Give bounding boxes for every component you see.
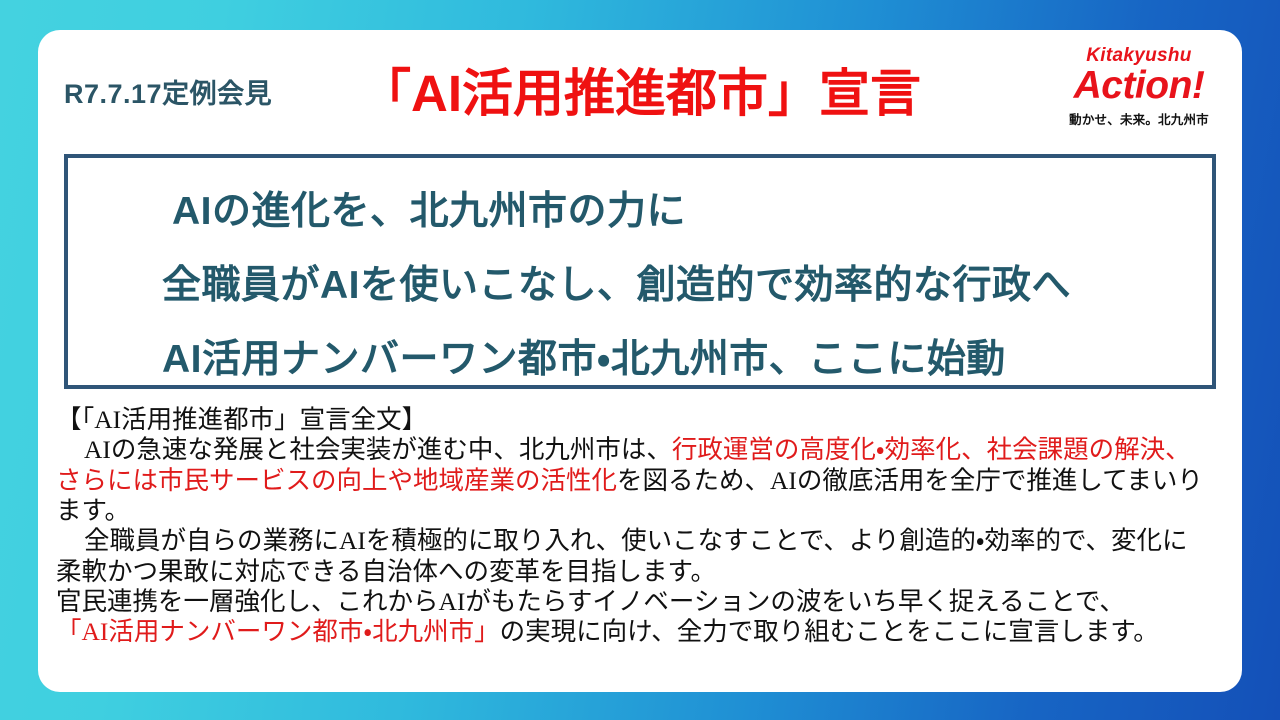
declaration-text-segment: AIの急速な発展と社会実装が進む中、北九州市は、 (84, 435, 672, 464)
declaration-text-segment: 「AI活用ナンバーワン都市・北九州市」 (56, 617, 500, 646)
declaration-text-segment: ます。 (56, 496, 130, 525)
meeting-date-label: R7.7.17定例会見 (64, 72, 272, 111)
declaration-body: 【「AI活用推進都市」宣言全文】 AIの急速な発展と社会実装が進む中、北九州市は… (56, 405, 1226, 648)
declaration-text-segment: 官民連携を一層強化し、これからAIがもたらすイノベーションの波をいち早く捉えるこ… (56, 587, 1125, 616)
declaration-line: 柔軟かつ果敢に対応できる自治体への変革を目指します。 (56, 557, 1226, 587)
logo-tagline: 動かせ、未来。北九州市 (1050, 109, 1228, 128)
slogan-box: AIの進化を、北九州市の力に 全職員がAIを使いこなし、創造的で効率的な行政へ … (64, 154, 1216, 389)
declaration-text-segment: の実現に向け、全力で取り組むことをここに宣言します。 (500, 617, 1159, 646)
slogan-line-1: AIの進化を、北九州市の力に (172, 180, 686, 236)
declaration-heading: 【「AI活用推進都市」宣言全文】 (56, 405, 1226, 435)
declaration-line: 「AI活用ナンバーワン都市・北九州市」の実現に向け、全力で取り組むことをここに宣… (56, 617, 1226, 647)
declaration-line: 官民連携を一層強化し、これからAIがもたらすイノベーションの波をいち早く捉えるこ… (56, 587, 1226, 617)
declaration-paragraphs: AIの急速な発展と社会実装が進む中、北九州市は、行政運営の高度化・効率化、社会課… (56, 435, 1226, 647)
logo-main-text: Action! (1050, 66, 1228, 106)
slide-card: R7.7.17定例会見 「AI活用推進都市」宣言 Kitakyushu Acti… (38, 30, 1242, 692)
declaration-text-segment: 柔軟かつ果敢に対応できる自治体への変革を目指します。 (56, 557, 716, 586)
declaration-line: ます。 (56, 496, 1226, 526)
declaration-line: 全職員が自らの業務にAIを積極的に取り入れ、使いこなすことで、より創造的・効率的… (56, 526, 1226, 556)
declaration-line: AIの急速な発展と社会実装が進む中、北九州市は、行政運営の高度化・効率化、社会課… (56, 435, 1226, 465)
page-title: 「AI活用推進都市」宣言 (360, 52, 921, 126)
logo-top-text: Kitakyushu (1050, 46, 1228, 65)
declaration-text-segment: 行政運営の高度化・効率化、社会課題の解決、 (672, 435, 1191, 464)
declaration-text-segment: 全職員が自らの業務にAIを積極的に取り入れ、使いこなすことで、より創造的・効率的… (84, 526, 1188, 555)
declaration-text-segment: を図るため、AIの徹底活用を全庁で推進してまいり (617, 466, 1203, 495)
declaration-text-segment: さらには市民サービスの向上や地域産業の活性化 (56, 466, 617, 495)
declaration-line: さらには市民サービスの向上や地域産業の活性化を図るため、AIの徹底活用を全庁で推… (56, 466, 1226, 496)
slogan-line-2: 全職員がAIを使いこなし、創造的で効率的な行政へ (162, 254, 1071, 310)
slogan-line-3: AI活用ナンバーワン都市・北九州市、ここに始動 (162, 328, 1006, 384)
kitakyushu-action-logo: Kitakyushu Action! 動かせ、未来。北九州市 (1050, 44, 1228, 136)
slide-header: R7.7.17定例会見 「AI活用推進都市」宣言 Kitakyushu Acti… (38, 30, 1242, 142)
